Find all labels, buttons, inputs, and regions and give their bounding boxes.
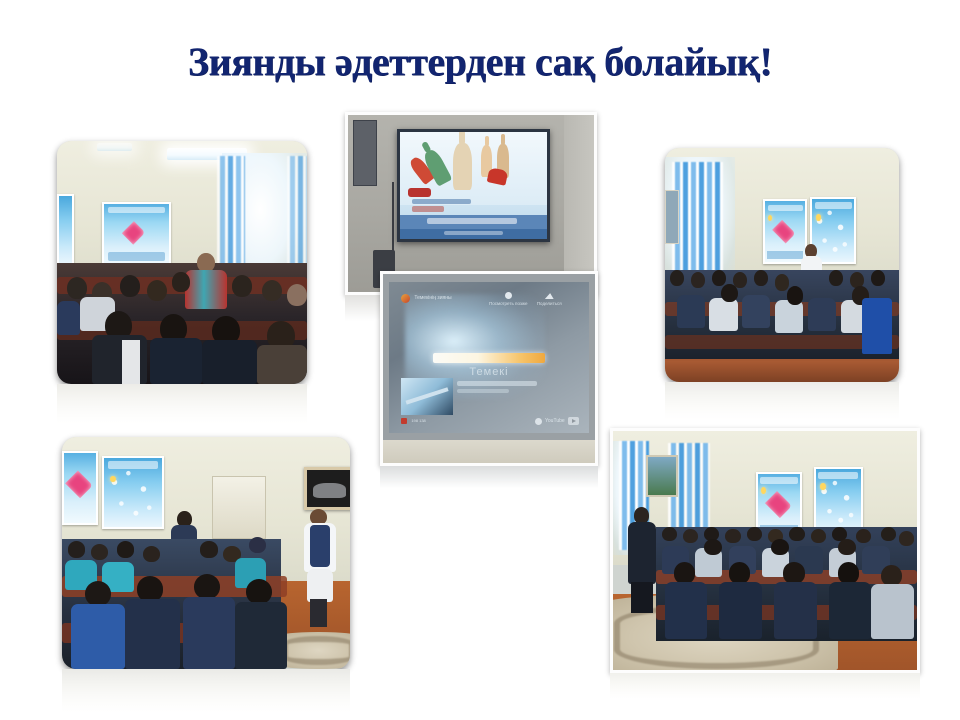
photo-video-player-image: Темекінің зияны Посмотреть позже Поделит… <box>380 271 598 466</box>
photo-reflection <box>380 466 598 488</box>
share-label: Поделиться <box>537 301 562 306</box>
video-thumbnail[interactable] <box>401 378 453 414</box>
video-channel-row: Темекінің зияны <box>401 294 451 303</box>
poster-blue <box>810 197 856 264</box>
photo-reflection <box>62 669 350 713</box>
watch-later-control[interactable]: Посмотреть позже <box>489 292 528 306</box>
poster-blue <box>102 456 164 530</box>
photo-classroom-top-left <box>57 141 307 384</box>
photo-video-player: Темекінің зияны Посмотреть позже Поделит… <box>380 271 598 466</box>
share-icon <box>545 293 554 299</box>
watch-later-label: Посмотреть позже <box>489 301 528 306</box>
channel-avatar-icon <box>401 294 410 303</box>
video-player-screen: Темекінің зияны Посмотреть позже Поделит… <box>389 282 588 433</box>
poster-heart <box>62 451 98 525</box>
video-title: Темекі <box>389 366 588 378</box>
photo-projector-presentation <box>345 112 597 295</box>
poster-heart <box>763 199 807 264</box>
channel-name: Темекінің зияны <box>414 295 451 301</box>
poster-heart <box>102 202 171 267</box>
subscribe-icon[interactable] <box>401 418 407 424</box>
photo-group-image <box>610 428 920 673</box>
photo-reflection <box>665 382 899 420</box>
presentation-slide: Зиянды әдеттерден сақ болайық! <box>0 0 960 720</box>
wall-landscape-picture <box>646 455 677 497</box>
photo-reflection <box>610 673 920 699</box>
photo-reflection <box>57 384 307 424</box>
wall-picture <box>665 190 679 243</box>
youtube-watermark: YouTube <box>535 417 579 425</box>
fullscreen-icon[interactable] <box>568 417 579 425</box>
slide-footnote <box>444 231 503 235</box>
video-progress-bar[interactable] <box>433 353 545 364</box>
projector-screen <box>397 129 550 242</box>
blue-chair <box>862 298 892 354</box>
slide-headline <box>412 199 471 204</box>
photo-classroom-top-left-image <box>57 141 307 384</box>
page-title: Зиянды әдеттерден сақ болайық! <box>0 38 960 85</box>
poster-left-edge <box>57 194 74 266</box>
photo-assembly-image <box>665 148 899 382</box>
photo-nurse-bottom-left <box>62 437 350 669</box>
watch-later-icon <box>505 292 512 299</box>
wall-framed-picture <box>304 467 350 510</box>
door <box>212 476 266 538</box>
youtube-label: YouTube <box>545 418 565 424</box>
poster-blue <box>814 467 864 536</box>
photo-projector-image <box>345 112 597 295</box>
photo-assembly-top-right <box>665 148 899 382</box>
slide-subline <box>427 218 518 224</box>
photo-group-bottom-right <box>610 428 920 673</box>
photo-nurse-image <box>62 437 350 669</box>
share-control[interactable]: Поделиться <box>537 292 562 306</box>
play-dot-icon <box>535 418 542 425</box>
